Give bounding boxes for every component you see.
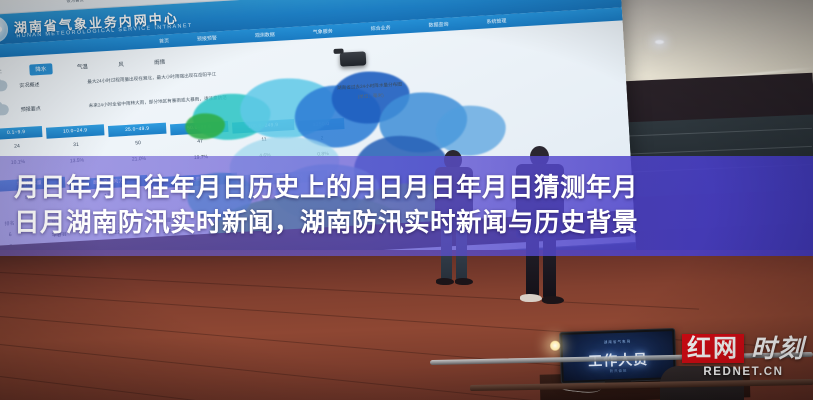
nav-item-2[interactable]: 观测数据 [255, 31, 275, 39]
summary-label-1: 预报要点 [21, 105, 41, 113]
tab-label-static: 要素： [0, 65, 11, 78]
ceiling-downlight [655, 40, 664, 44]
monitor-header-text: 湖南省气象局 [562, 338, 672, 347]
cloud-rain-icon [0, 104, 9, 116]
watermark-brand-white: 时刻 [751, 336, 805, 361]
summary-label-0: 实况概述 [19, 81, 39, 89]
nav-item-6[interactable]: 系统管理 [486, 17, 506, 25]
nav-item-1[interactable]: 预报预警 [197, 34, 217, 42]
tab-wind[interactable]: 风 [112, 58, 130, 70]
watermark-domain: REDNET.CN [682, 366, 805, 378]
rain-range-header-2: 25.0~49.9 [108, 123, 167, 137]
nav-item-5[interactable]: 数据查询 [428, 21, 448, 29]
cloud-icon [0, 80, 8, 92]
watermark-brand-row: 红网 时刻 [682, 334, 805, 363]
rednet-watermark: 红网 时刻 REDNET.CN [682, 334, 805, 378]
tab-precipitation[interactable]: 降水 [29, 63, 53, 75]
tab-temperature[interactable]: 气温 [71, 60, 95, 72]
nav-item-0[interactable]: 首页 [159, 37, 169, 45]
tab-rain-status[interactable]: 雨情 [148, 56, 172, 68]
rain-count-1: 31 [47, 140, 105, 149]
headline-overlay-text: 月日年月日往年月日历史上的月日月日年月日猜测年月 日月湖南防汛实时新闻，湖南防汛… [0, 156, 813, 256]
headline-line-2: 日月湖南防汛实时新闻，湖南防汛实时新闻与历史背景 [14, 206, 799, 241]
watermark-red-block: 红网 [682, 334, 744, 363]
person-shoe [436, 278, 454, 285]
person-shoe [542, 296, 564, 304]
rain-count-0: 24 [0, 142, 43, 151]
person-shoe [455, 278, 473, 285]
person-shoe [520, 294, 542, 302]
nav-item-3[interactable]: 气象服务 [313, 28, 333, 36]
top-link-home[interactable]: 设为首页 [66, 0, 84, 4]
nav-item-4[interactable]: 综合业务 [370, 24, 390, 32]
rain-count-2: 50 [109, 139, 167, 148]
photo-scene: 10.116.172.16 设为首页 加入收藏 帮助中心 退出 湖南省气象业务内… [0, 0, 813, 400]
ceiling-projector [340, 51, 367, 66]
rain-range-header-1: 10.0~24.9 [46, 124, 105, 138]
watermark-brand-cn: 红网 [687, 336, 739, 360]
headline-line-1: 月日年月日往年月日历史上的月日月日年月日猜测年月 [14, 171, 799, 206]
rain-range-header-0: 0.1~9.9 [0, 126, 42, 140]
